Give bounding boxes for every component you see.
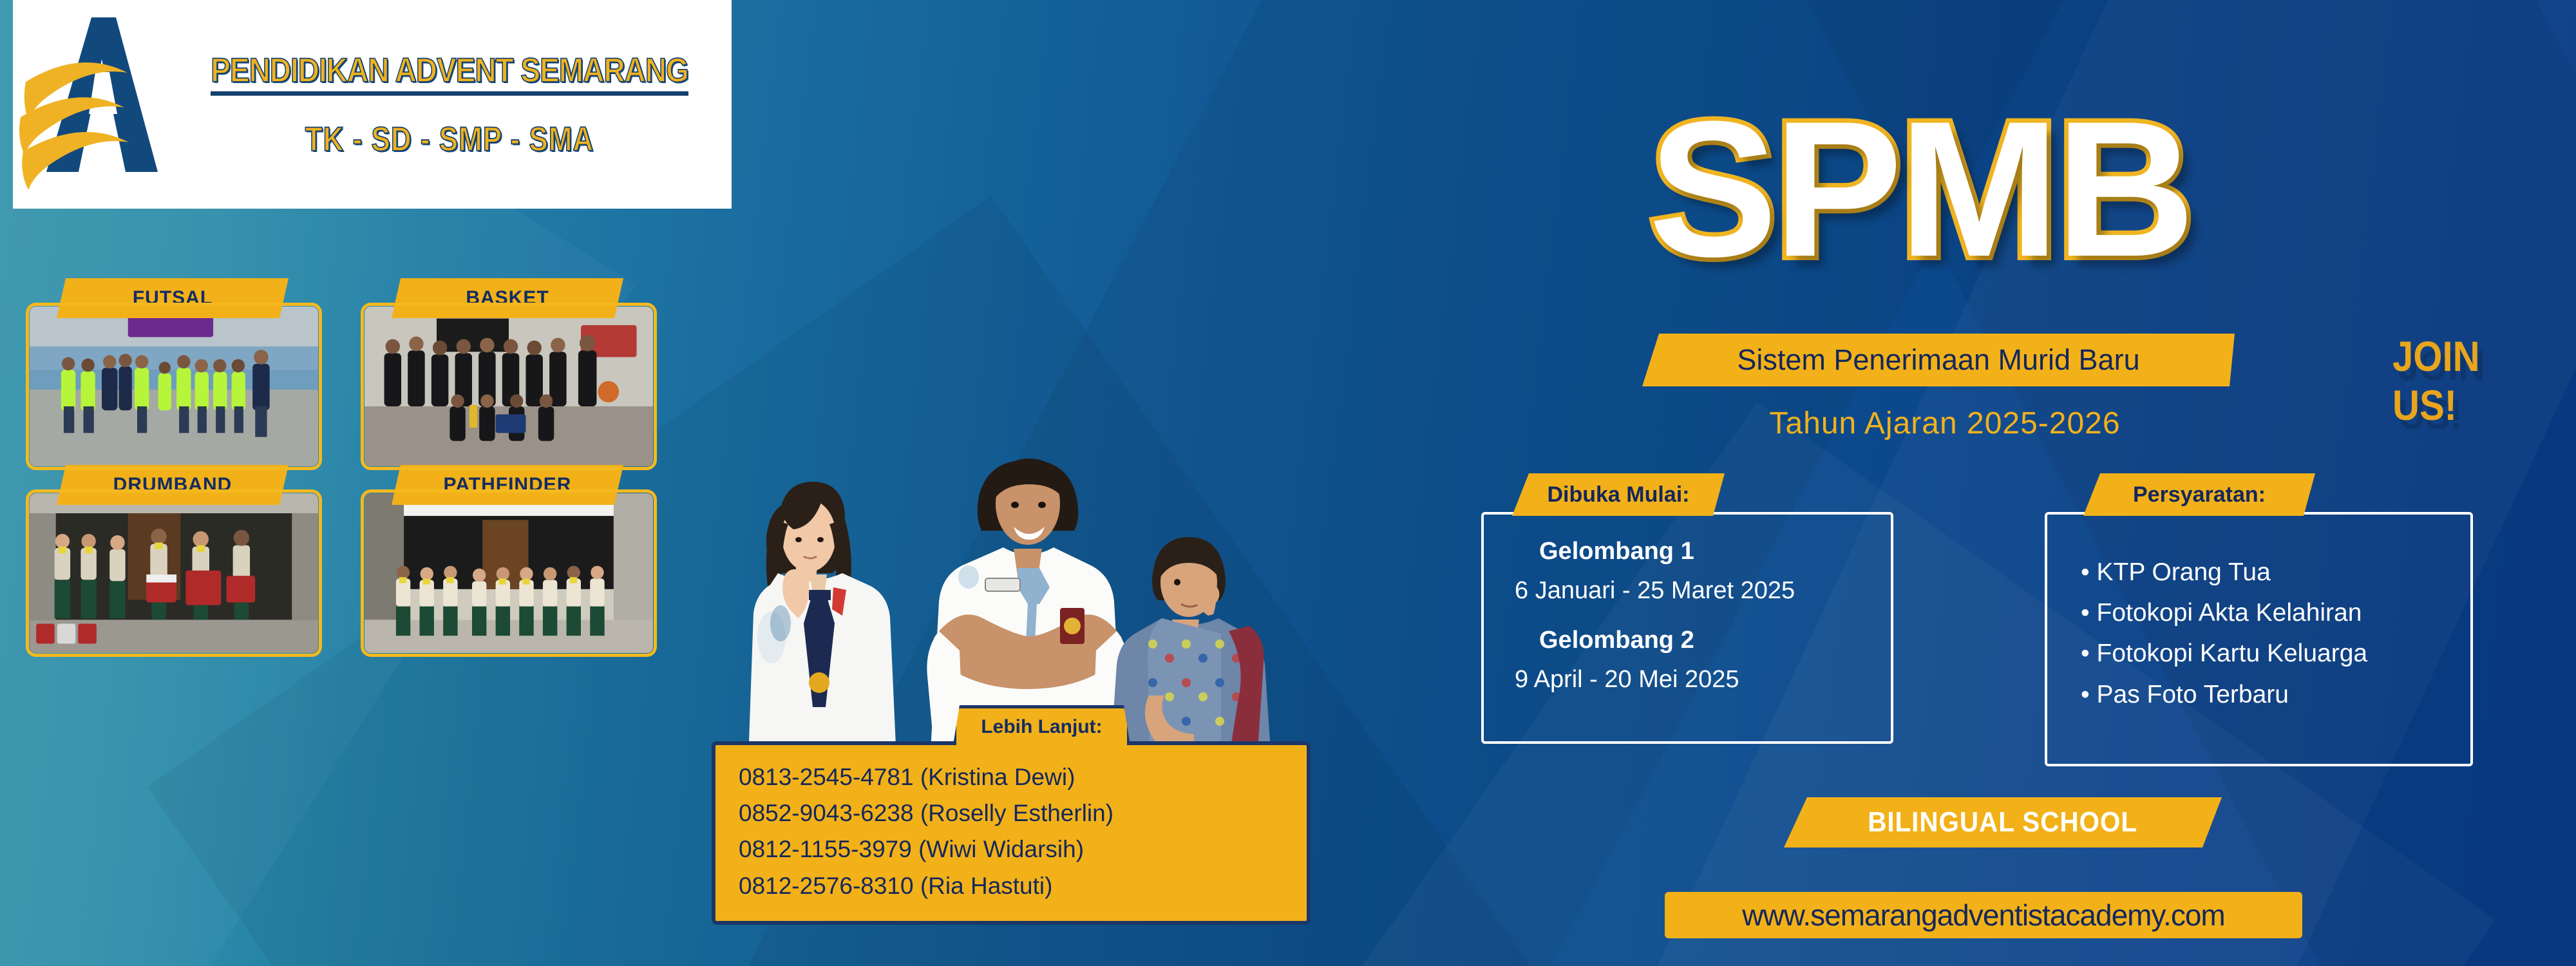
registration-dates-tab-label: Dibuka Mulai: [1547,482,1689,507]
wave-2-range: 9 April - 20 Mei 2025 [1515,666,1891,694]
wave-2-title: Gelombang 2 [1539,627,1891,654]
logo-text-block: PENDIDIKAN ADVENT SEMARANG TK - SD - SMP… [180,53,732,156]
contact-entry[interactable]: 0813-2545-4781 (Kristina Dewi) [739,759,1307,795]
bilingual-school-label: BILINGUAL SCHOOL [1868,806,2138,838]
requirements-body: • KTP Orang Tua • Fotokopi Akta Kelahira… [2045,512,2473,766]
activity-card-tab: BASKET [392,278,623,318]
wave-1-title: Gelombang 1 [1539,538,1891,565]
drumband-group-photo [30,493,318,653]
registration-dates-body: Gelombang 1 6 Januari - 25 Maret 2025 Ge… [1481,512,1893,744]
activity-card-label: FUTSAL [133,287,213,309]
spmb-admission-banner: PENDIDIKAN ADVENT SEMARANG TK - SD - SMP… [0,0,2576,966]
logo-school-name: PENDIDIKAN ADVENT SEMARANG [211,50,688,95]
spacer [1515,605,1891,627]
school-logo-box: PENDIDIKAN ADVENT SEMARANG TK - SD - SMP… [13,0,732,209]
contact-card-tab-label: Lebih Lanjut: [981,716,1102,738]
three-students-cutout [702,361,1346,760]
requirement-text: KTP Orang Tua [2097,558,2271,586]
activity-card-label: DRUMBAND [113,474,232,496]
join-us-label: JOIN US! [2392,332,2554,430]
activity-card-label: BASKET [466,287,549,309]
requirement-item: • KTP Orang Tua [2081,552,2470,592]
spmb-headline: SPMB [1649,100,2192,278]
requirement-text: Fotokopi Kartu Keluarga [2097,639,2368,667]
letter-a-swoosh-icon [19,11,180,198]
requirements-panel: Persyaratan: • KTP Orang Tua • Fotokopi … [2045,473,2473,766]
activity-card-tab: DRUMBAND [57,465,289,505]
requirement-text: Fotokopi Akta Kelahiran [2097,599,2362,627]
activity-photo-grid: FUTSAL [26,303,670,663]
activity-card-label: PATHFINDER [444,474,572,496]
requirement-item: • Fotokopi Akta Kelahiran [2081,592,2470,633]
futsal-team-photo [30,307,318,466]
requirements-tab-label: Persyaratan: [2133,482,2266,507]
bilingual-school-badge: BILINGUAL SCHOOL [1784,797,2222,848]
requirement-item: • Pas Foto Terbaru [2081,674,2470,715]
activity-card-basket[interactable]: BASKET [361,303,657,470]
wave-1-range: 6 Januari - 25 Maret 2025 [1515,577,1891,605]
activity-card-tab: FUTSAL [57,278,289,318]
requirements-tab: Persyaratan: [2083,473,2315,516]
contact-entry[interactable]: 0812-1155-3979 (Wiwi Widarsih) [739,831,1307,867]
registration-dates-tab: Dibuka Mulai: [1512,473,1725,516]
activity-card-pathfinder[interactable]: PATHFINDER [361,489,657,657]
activity-card-drumband[interactable]: DRUMBAND [26,489,322,657]
spmb-title: SPMB [1649,100,2192,278]
website-url: www.semarangadventistacademy.com [1742,898,2224,933]
spmb-subtitle: Sistem Penerimaan Murid Baru [1737,343,2139,377]
basketball-team-photo [365,307,653,466]
requirement-text: Pas Foto Terbaru [2097,681,2289,708]
pathfinder-group-photo [365,493,653,653]
contact-card-tab: Lebih Lanjut: [953,705,1130,745]
contact-card: Lebih Lanjut: 0813-2545-4781 (Kristina D… [712,705,1311,927]
school-year-label: Tahun Ajaran 2025-2026 [1655,406,2235,441]
spmb-subtitle-banner: Sistem Penerimaan Murid Baru [1642,334,2235,386]
activity-card-tab: PATHFINDER [392,465,623,505]
activity-card-futsal[interactable]: FUTSAL [26,303,322,470]
requirement-item: • Fotokopi Kartu Keluarga [2081,633,2470,674]
contact-entry[interactable]: 0852-9043-6238 (Roselly Estherlin) [739,795,1307,831]
registration-dates-panel: Dibuka Mulai: Gelombang 1 6 Januari - 25… [1481,473,1893,744]
logo-school-levels: TK - SD - SMP - SMA [305,120,594,159]
website-bar[interactable]: www.semarangadventistacademy.com [1665,892,2302,938]
contact-entry[interactable]: 0812-2576-8310 (Ria Hastuti) [739,868,1307,904]
contact-list: 0813-2545-4781 (Kristina Dewi) 0852-9043… [712,741,1311,925]
